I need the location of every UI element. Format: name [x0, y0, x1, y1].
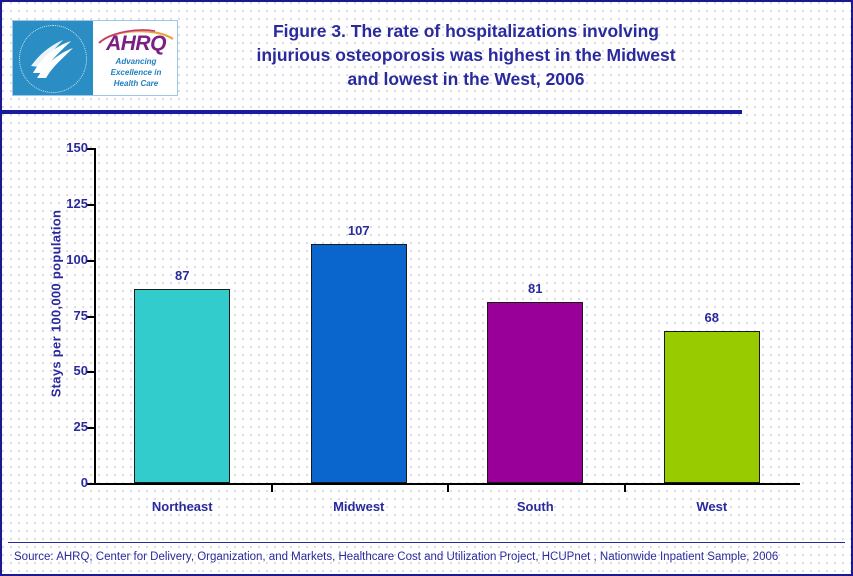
y-axis-tick-label: 50 — [28, 363, 88, 378]
y-axis-tick-label: 100 — [28, 252, 88, 267]
footer-divider — [8, 542, 845, 543]
ahrq-logo: AHRQ Advancing Excellence in Health Care — [12, 20, 178, 96]
figure-header: AHRQ Advancing Excellence in Health Care… — [2, 2, 851, 110]
title-divider — [2, 110, 742, 114]
y-axis-tick — [87, 427, 94, 429]
source-note: Source: AHRQ, Center for Delivery, Organ… — [14, 551, 844, 563]
bar-value-northeast: 87 — [132, 268, 232, 283]
hhs-bird-icon — [27, 33, 79, 83]
plot-area: 0255075100125150 871078168 NortheastMidw… — [94, 148, 800, 485]
ahrq-tagline: Advancing Excellence in Health Care — [95, 57, 177, 89]
y-axis-tick-label: 25 — [28, 419, 88, 434]
y-axis-tick-label: 75 — [28, 308, 88, 323]
x-axis-label-south: South — [455, 499, 615, 514]
figure-title-line-1: Figure 3. The rate of hospitalizations i… — [188, 20, 744, 44]
y-axis-tick — [87, 316, 94, 318]
y-axis-tick — [87, 371, 94, 373]
y-axis-line — [94, 148, 96, 485]
bar-chart: Stays per 100,000 population 02550751001… — [2, 118, 851, 538]
figure-title-line-3: and lowest in the West, 2006 — [188, 68, 744, 92]
y-axis-tick — [87, 204, 94, 206]
bar-value-south: 81 — [485, 281, 585, 296]
y-axis-tick — [87, 260, 94, 262]
ahrq-wordmark: AHRQ Advancing Excellence in Health Care — [95, 25, 177, 93]
y-axis-tick-label: 150 — [28, 140, 88, 155]
ahrq-tagline-line-3: Health Care — [95, 79, 177, 90]
ahrq-wordmark-text: AHRQ — [95, 33, 177, 54]
bar-midwest[interactable] — [311, 244, 407, 483]
bar-northeast[interactable] — [134, 289, 230, 483]
ahrq-tagline-line-1: Advancing — [95, 57, 177, 68]
x-axis-label-midwest: Midwest — [279, 499, 439, 514]
figure-title: Figure 3. The rate of hospitalizations i… — [188, 20, 744, 92]
ahrq-tagline-line-2: Excellence in — [95, 68, 177, 79]
hhs-seal-icon — [13, 21, 93, 95]
bar-south[interactable] — [487, 302, 583, 483]
x-axis-tick — [624, 485, 626, 492]
figure-title-line-2: injurious osteoporosis was highest in th… — [188, 44, 744, 68]
y-axis-tick-label: 125 — [28, 196, 88, 211]
y-axis-tick-label: 0 — [28, 475, 88, 490]
figure-page: AHRQ Advancing Excellence in Health Care… — [0, 0, 853, 576]
x-axis-tick — [271, 485, 273, 492]
x-axis-label-west: West — [632, 499, 792, 514]
y-axis-tick — [87, 148, 94, 150]
x-axis-label-northeast: Northeast — [102, 499, 262, 514]
x-axis-tick — [447, 485, 449, 492]
y-axis-tick — [87, 483, 94, 485]
bar-value-midwest: 107 — [309, 223, 409, 238]
bar-west[interactable] — [664, 331, 760, 483]
bar-value-west: 68 — [662, 310, 762, 325]
